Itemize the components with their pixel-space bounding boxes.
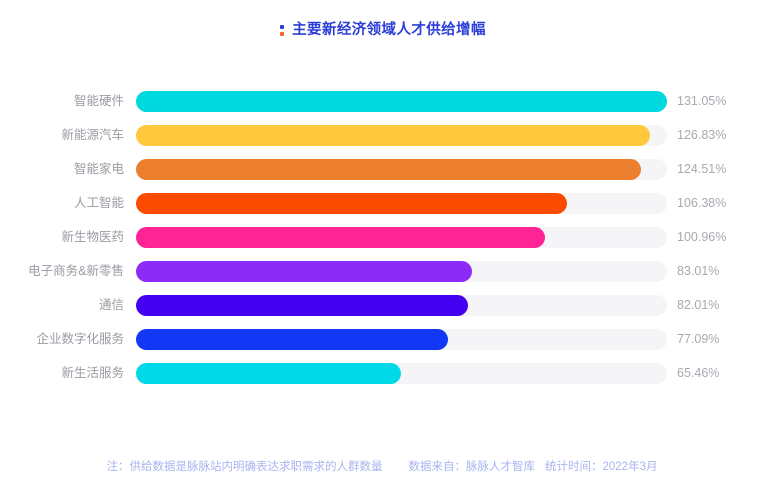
bar-track <box>136 363 667 384</box>
category-label: 新生物医药 <box>0 227 124 248</box>
table-row: 新生物医药 100.96% <box>0 227 764 261</box>
value-label: 83.01% <box>677 261 719 282</box>
footer-note: 注：供给数据是脉脉站内明确表达求职需求的人群数量 数据来自：脉脉人才智库 统计时… <box>0 458 764 474</box>
bar-fill <box>136 193 567 214</box>
table-row: 人工智能 106.38% <box>0 193 764 227</box>
value-label: 131.05% <box>677 91 726 112</box>
value-label: 126.83% <box>677 125 726 146</box>
category-label: 智能硬件 <box>0 91 124 112</box>
table-row: 新能源汽车 126.83% <box>0 125 764 159</box>
chart-title-row: 主要新经济领域人才供给增幅 <box>0 21 764 39</box>
footer-period-text: 统计时间：2022年3月 <box>545 458 657 474</box>
value-label: 100.96% <box>677 227 726 248</box>
table-row: 智能硬件 131.05% <box>0 91 764 125</box>
bar-track <box>136 193 667 214</box>
category-label: 人工智能 <box>0 193 124 214</box>
bar-fill <box>136 227 545 248</box>
title-bullet-top-dot-icon <box>280 25 284 29</box>
bar-track <box>136 329 667 350</box>
bar-fill <box>136 159 641 180</box>
bar-track <box>136 125 667 146</box>
page-title: 主要新经济领域人才供给增幅 <box>292 21 486 39</box>
value-label: 124.51% <box>677 159 726 180</box>
title-bullet-bottom-dot-icon <box>280 32 284 36</box>
bar-fill <box>136 91 667 112</box>
value-label: 106.38% <box>677 193 726 214</box>
bar-fill <box>136 295 468 316</box>
title-bullet-icon <box>278 21 285 39</box>
table-row: 智能家电 124.51% <box>0 159 764 193</box>
footer-note-text: 注：供给数据是脉脉站内明确表达求职需求的人群数量 <box>107 458 383 474</box>
bar-track <box>136 91 667 112</box>
bar-track <box>136 227 667 248</box>
table-row: 新生活服务 65.46% <box>0 363 764 397</box>
bar-track <box>136 261 667 282</box>
bar-fill <box>136 363 401 384</box>
category-label: 智能家电 <box>0 159 124 180</box>
bar-fill <box>136 261 472 282</box>
category-label: 通信 <box>0 295 124 316</box>
bar-track <box>136 159 667 180</box>
category-label: 电子商务&新零售 <box>0 261 124 282</box>
category-label: 新生活服务 <box>0 363 124 384</box>
value-label: 77.09% <box>677 329 719 350</box>
bar-fill <box>136 125 650 146</box>
bar-chart: 智能硬件 131.05% 新能源汽车 126.83% 智能家电 124.51% … <box>0 91 764 397</box>
category-label: 新能源汽车 <box>0 125 124 146</box>
footer-source-text: 数据来自：脉脉人才智库 <box>409 458 536 474</box>
value-label: 82.01% <box>677 295 719 316</box>
bar-fill <box>136 329 448 350</box>
table-row: 通信 82.01% <box>0 295 764 329</box>
bar-track <box>136 295 667 316</box>
category-label: 企业数字化服务 <box>0 329 124 350</box>
value-label: 65.46% <box>677 363 719 384</box>
table-row: 电子商务&新零售 83.01% <box>0 261 764 295</box>
table-row: 企业数字化服务 77.09% <box>0 329 764 363</box>
